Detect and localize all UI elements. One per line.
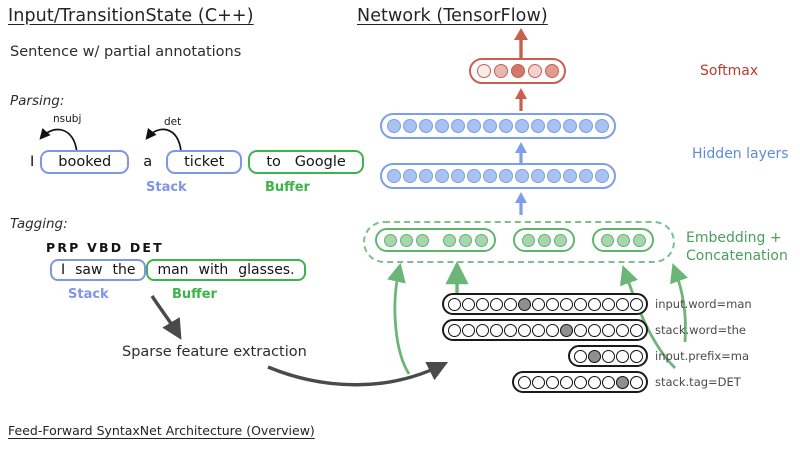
feature-node — [602, 324, 615, 337]
feature-node — [532, 298, 545, 311]
feature-row — [442, 319, 648, 341]
arc-label-nsubj: nsubj — [53, 113, 81, 125]
hidden-node — [451, 119, 465, 133]
softmax-label: Softmax — [700, 63, 758, 79]
hidden-node — [467, 119, 481, 133]
feature-label: input.prefix=ma — [655, 349, 749, 363]
feature-node — [546, 298, 559, 311]
feature-node — [574, 324, 587, 337]
tagging-token-row: I saw the man with glasses. — [50, 259, 306, 281]
hidden-node — [499, 119, 513, 133]
embedding-to-hidden2-arrow — [510, 192, 532, 216]
hidden-node — [563, 119, 577, 133]
softmax-node — [528, 64, 542, 78]
parsing-stack-label: Stack — [146, 180, 187, 195]
feature-label: stack.tag=DET — [655, 375, 741, 389]
embedding-node — [443, 234, 456, 247]
feature-node — [602, 376, 615, 389]
feature-node — [518, 324, 531, 337]
feature-node — [630, 298, 643, 311]
hidden-node — [403, 119, 417, 133]
feature-node — [490, 324, 503, 337]
parsing-token-row: I booked a ticket to Google — [24, 150, 364, 174]
hidden-node — [451, 169, 465, 183]
feature-node — [630, 376, 643, 389]
feature-node — [588, 376, 601, 389]
parsing-heading: Parsing: — [10, 93, 64, 109]
hidden-node — [499, 169, 513, 183]
tagging-heading: Tagging: — [10, 216, 68, 232]
embedding-node — [601, 234, 614, 247]
tagging-buffer-token-0: man — [152, 262, 193, 278]
embedding-concatenation-label: Embedding + Concatenation — [686, 230, 788, 265]
feature-node — [630, 324, 643, 337]
softmax-node — [477, 64, 491, 78]
hidden-node — [419, 169, 433, 183]
tagging-buffer-token-1: with — [194, 262, 234, 278]
hidden-node — [483, 119, 497, 133]
hidden-node — [387, 169, 401, 183]
softmax-node — [494, 64, 508, 78]
hidden-node — [403, 169, 417, 183]
feature-node — [490, 298, 503, 311]
embedding-node — [384, 234, 397, 247]
left-column-title: Input/TransitionState (C++) — [8, 6, 254, 26]
softmax-node — [511, 64, 525, 78]
hidden-node — [435, 169, 449, 183]
feature-node-active — [518, 298, 531, 311]
embedding-groups-row — [375, 228, 654, 252]
hidden-node — [579, 169, 593, 183]
parse-token-ticket-label: ticket — [177, 154, 231, 170]
hidden-node — [515, 119, 529, 133]
feature-node — [532, 376, 545, 389]
tagging-stack-box[interactable]: I saw the — [50, 259, 146, 281]
feature-node — [546, 376, 559, 389]
tagging-buffer-box[interactable]: man with glasses. — [146, 259, 305, 281]
feature-node — [504, 298, 517, 311]
parse-token-booked-label: booked — [51, 154, 118, 170]
hidden-node — [595, 119, 609, 133]
embedding-node — [459, 234, 472, 247]
feature-label: input.word=man — [655, 297, 752, 311]
feature-node — [602, 298, 615, 311]
hidden-node — [435, 119, 449, 133]
feature-node — [518, 376, 531, 389]
feature-node — [462, 298, 475, 311]
embedding-node — [554, 234, 567, 247]
embedding-node — [522, 234, 535, 247]
left-column-subtitle: Sentence w/ partial annotations — [10, 44, 241, 60]
embedding-label-line-1: Embedding + — [686, 230, 788, 248]
parse-token-ticket[interactable]: ticket — [166, 150, 242, 174]
hidden-node — [579, 119, 593, 133]
embedding-group — [513, 228, 575, 252]
feature-node — [588, 324, 601, 337]
tagging-stack-token-1: saw — [70, 262, 107, 278]
feature-node — [588, 298, 601, 311]
parsing-buffer-label: Buffer — [265, 180, 310, 195]
right-column-title: Network (TensorFlow) — [357, 6, 548, 26]
feature-node — [476, 298, 489, 311]
feature-node — [504, 324, 517, 337]
parse-token-to-google-label: to Google — [259, 154, 353, 170]
arc-label-det: det — [164, 116, 181, 128]
feature-node — [462, 324, 475, 337]
footer-caption: Feed-Forward SyntaxNet Architecture (Ove… — [8, 423, 315, 438]
feature-node — [616, 350, 629, 363]
hidden-layers-label: Hidden layers — [692, 146, 789, 162]
parse-token-booked[interactable]: booked — [40, 150, 129, 174]
hidden-node — [547, 119, 561, 133]
hidden-node — [531, 119, 545, 133]
hidden-node — [595, 169, 609, 183]
tagging-stack-token-0: I — [56, 262, 70, 278]
hidden-node — [515, 169, 529, 183]
feature-label: stack.word=the — [655, 323, 746, 337]
hidden-node — [467, 169, 481, 183]
feature-node — [546, 324, 559, 337]
tagging-buffer-token-2: glasses. — [233, 262, 299, 278]
parse-token-i: I — [24, 154, 40, 170]
feature-node — [560, 376, 573, 389]
feature-node — [630, 350, 643, 363]
hidden-layer-1 — [380, 113, 616, 139]
softmax-output-arrow — [510, 28, 532, 60]
hidden-node — [531, 169, 545, 183]
embedding-node — [617, 234, 630, 247]
tagging-pos-tags: PRP VBD DET — [46, 240, 164, 255]
hidden-node — [547, 169, 561, 183]
embedding-node — [538, 234, 551, 247]
parse-token-to-google[interactable]: to Google — [248, 150, 364, 174]
feature-node — [532, 324, 545, 337]
softmax-node — [545, 64, 559, 78]
feature-node — [448, 298, 461, 311]
hidden-node — [419, 119, 433, 133]
hidden-node — [563, 169, 577, 183]
feature-node-active — [560, 324, 573, 337]
feature-node — [574, 376, 587, 389]
feature-node-active — [588, 350, 601, 363]
feature-node — [574, 350, 587, 363]
parse-token-a: a — [129, 154, 166, 170]
embedding-node — [416, 234, 429, 247]
softmax-layer — [469, 58, 566, 84]
embedding-label-line-2: Concatenation — [686, 248, 788, 266]
hidden-node — [483, 169, 497, 183]
embedding-node — [475, 234, 488, 247]
embedding-node — [400, 234, 413, 247]
sparse-feature-extraction-label: Sparse feature extraction — [122, 344, 307, 360]
feature-node — [448, 324, 461, 337]
hidden1-to-softmax-arrow — [510, 88, 532, 112]
feature-node-active — [616, 376, 629, 389]
embedding-group — [375, 228, 496, 252]
embedding-group — [592, 228, 654, 252]
feature-node — [574, 298, 587, 311]
embedding-node — [633, 234, 646, 247]
hidden-node — [387, 119, 401, 133]
feature-row — [442, 293, 648, 315]
feature-node — [616, 324, 629, 337]
feature-node — [560, 298, 573, 311]
feature-node — [602, 350, 615, 363]
feature-row — [512, 371, 648, 393]
feature-node — [476, 324, 489, 337]
feature-node — [616, 298, 629, 311]
feature-row — [568, 345, 648, 367]
hidden-layer-2 — [380, 163, 616, 189]
tagging-stack-token-2: the — [107, 262, 140, 278]
